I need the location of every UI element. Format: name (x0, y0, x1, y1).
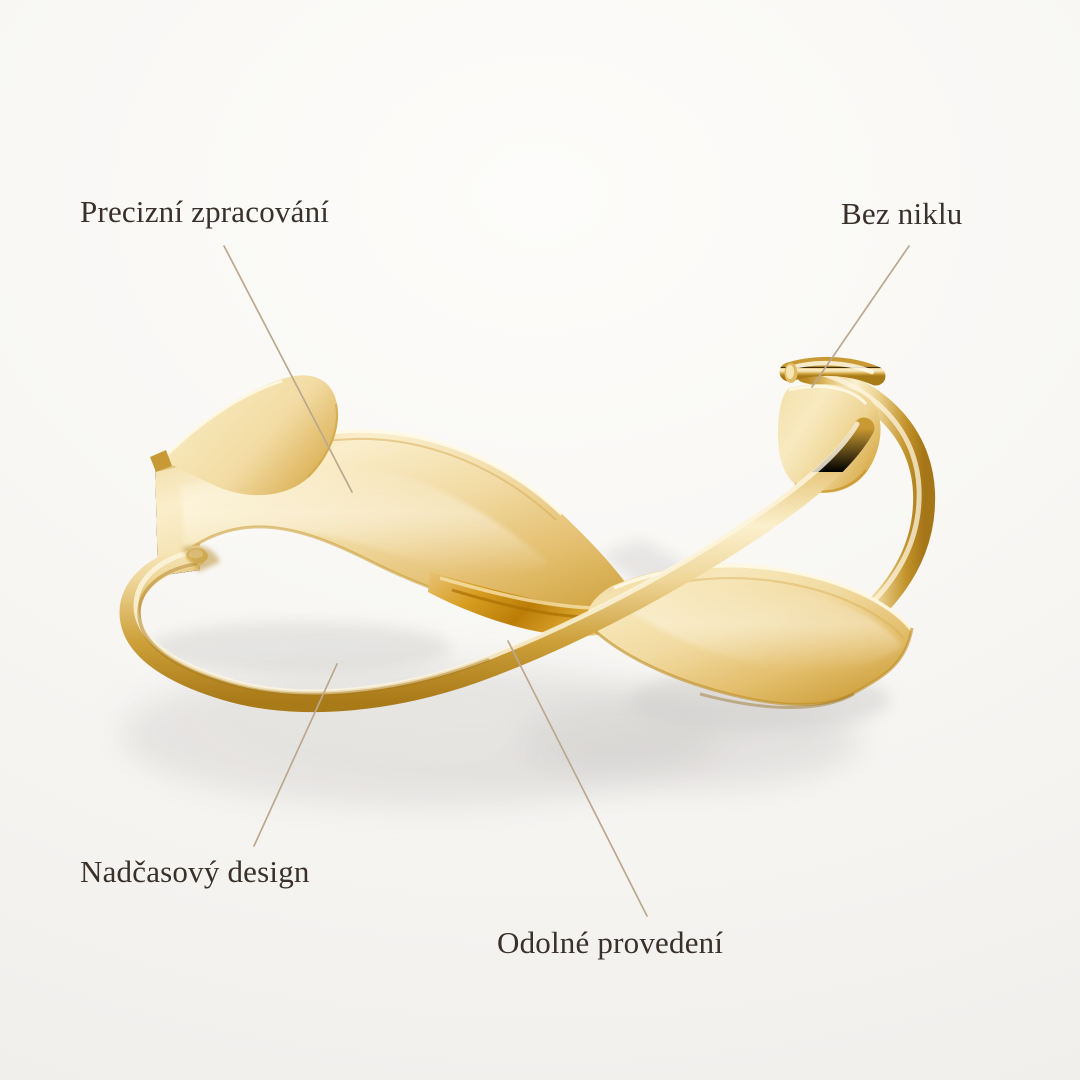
annotation-label-bez-niklu: Bez niklu (841, 198, 962, 229)
product-image-canvas: Precizní zpracování Bez niklu Nadčasový … (0, 0, 1080, 1080)
annotation-label-odolne: Odolné provedení (497, 927, 723, 958)
annotation-label-precizni: Precizní zpracování (80, 196, 329, 227)
bracelet-illustration (0, 0, 1080, 1080)
annotation-label-nadcasovy: Nadčasový design (80, 856, 310, 887)
